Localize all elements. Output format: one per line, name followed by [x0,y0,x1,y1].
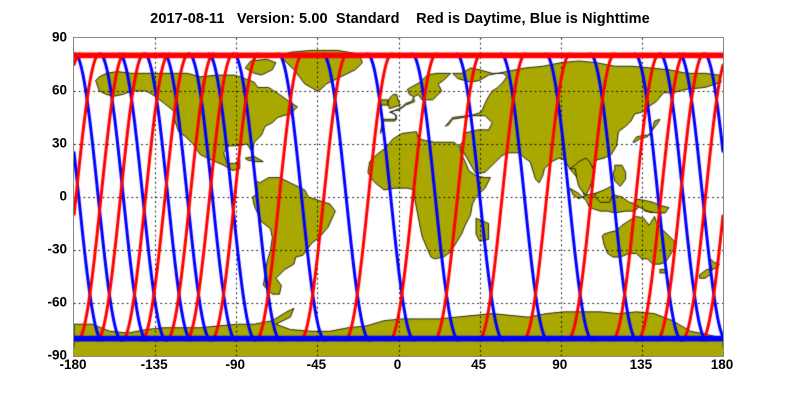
x-axis-tick-labels: -180-135-90-4504590135180 [0,0,800,400]
x-tick-label: 135 [630,357,653,372]
x-tick-label: 45 [471,357,486,372]
x-tick-label: -135 [141,357,168,372]
ground-track-chart: 2017-08-11 Version: 5.00 Standard Red is… [0,0,800,400]
x-tick-label: 0 [394,357,402,372]
x-tick-label: -180 [59,357,86,372]
x-tick-label: -45 [307,357,327,372]
x-tick-label: -90 [225,357,245,372]
x-tick-label: 180 [711,357,734,372]
x-tick-label: 90 [552,357,567,372]
